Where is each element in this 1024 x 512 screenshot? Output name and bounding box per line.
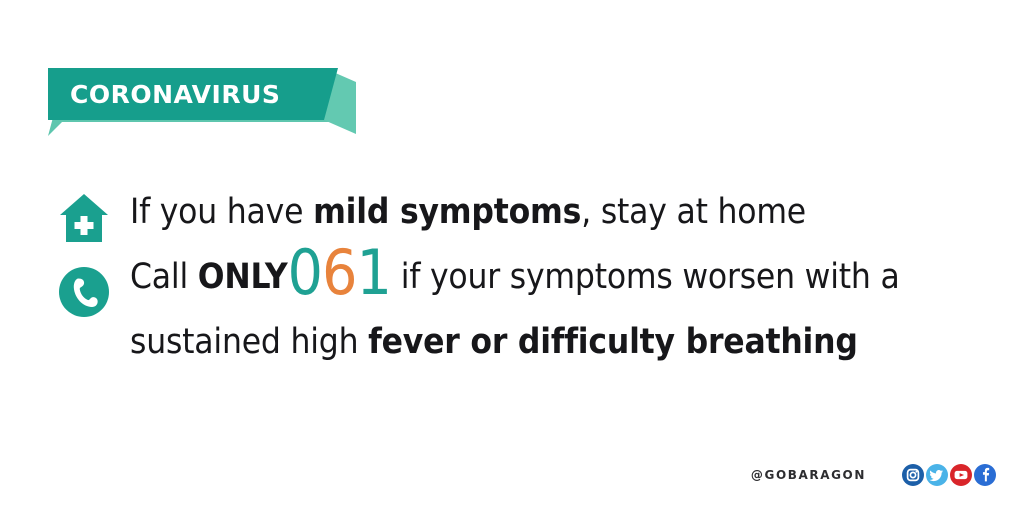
facebook-icon[interactable] [974, 464, 996, 486]
banner-face: CORONAVIRUS [48, 68, 338, 120]
youtube-icon[interactable] [950, 464, 972, 486]
home-health-icon [58, 192, 110, 244]
emergency-number-digit-0: 0 [288, 236, 322, 309]
advice-line-3-prefix: sustained high [130, 322, 368, 362]
coronavirus-banner: CORONAVIRUS [48, 68, 348, 140]
advice-line-1-prefix: If you have [130, 192, 313, 232]
social-handle: @GOBARAGON [751, 468, 866, 482]
banner-label: CORONAVIRUS [48, 82, 280, 107]
advice-line-1-emphasis: mild symptoms [313, 192, 581, 232]
advice-line-1: If you have mild symptoms, stay at home [130, 180, 1000, 245]
advice-line-2: Call ONLY061 if your symptoms worsen wit… [130, 245, 1000, 310]
advice-line-2-prefix: Call [130, 257, 198, 297]
advice-message: If you have mild symptoms, stay at home … [130, 180, 1000, 375]
advice-line-3: sustained high fever or difficulty breat… [130, 310, 1000, 375]
advice-line-2-emphasis: ONLY [198, 257, 288, 297]
phone-call-icon [58, 266, 110, 318]
emergency-number-digit-1: 6 [322, 236, 356, 309]
footer: @GOBARAGON [751, 464, 996, 486]
emergency-number-digit-2: 1 [357, 236, 391, 309]
emergency-number: 061 [288, 236, 391, 309]
advice-line-2-suffix: if your symptoms worsen with a [391, 257, 900, 297]
social-links [902, 464, 996, 486]
advice-line-3-emphasis: fever or difficulty breathing [368, 322, 858, 362]
instagram-icon[interactable] [902, 464, 924, 486]
twitter-icon[interactable] [926, 464, 948, 486]
advice-line-1-suffix: , stay at home [581, 192, 806, 232]
